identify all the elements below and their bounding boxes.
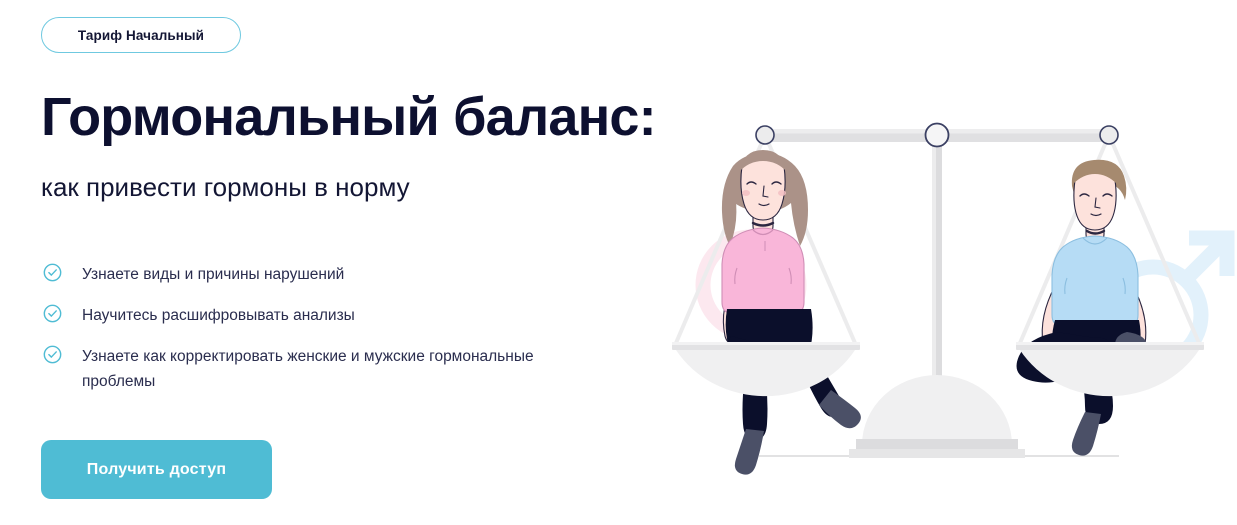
balance-scale-illustration: [641, 100, 1237, 500]
plan-badge[interactable]: Тариф Начальный: [41, 17, 241, 53]
get-access-button[interactable]: Получить доступ: [41, 440, 272, 499]
check-circle-icon: [43, 304, 62, 323]
list-item-label: Узнаете виды и причины нарушений: [82, 262, 344, 287]
hero-content-column: Тариф Начальный Гормональный баланс: как…: [41, 0, 661, 525]
scale-base-step-upper: [856, 439, 1018, 449]
feature-list: Узнаете виды и причины нарушений Научите…: [43, 262, 563, 394]
landing-hero-page: Тариф Начальный Гормональный баланс: как…: [0, 0, 1237, 525]
list-item: Узнаете виды и причины нарушений: [43, 262, 563, 287]
page-title: Гормональный баланс:: [41, 88, 656, 146]
check-circle-icon: [43, 345, 62, 364]
left-beam-pivot: [756, 126, 774, 144]
right-scale-pan-bowl: [1020, 350, 1199, 396]
list-item-label: Научитесь расшифровывать анализы: [82, 303, 355, 328]
scale-base-step-lower: [849, 449, 1025, 458]
list-item: Научитесь расшифровывать анализы: [43, 303, 563, 328]
list-item: Узнаете как корректировать женские и муж…: [43, 344, 563, 394]
check-circle-icon: [43, 263, 62, 282]
list-item-label: Узнаете как корректировать женские и муж…: [82, 344, 563, 394]
scale-base-dome: [862, 375, 1012, 445]
right-beam-pivot: [1100, 126, 1118, 144]
page-subtitle: как привести гормоны в норму: [41, 172, 410, 203]
center-pivot: [926, 124, 949, 147]
